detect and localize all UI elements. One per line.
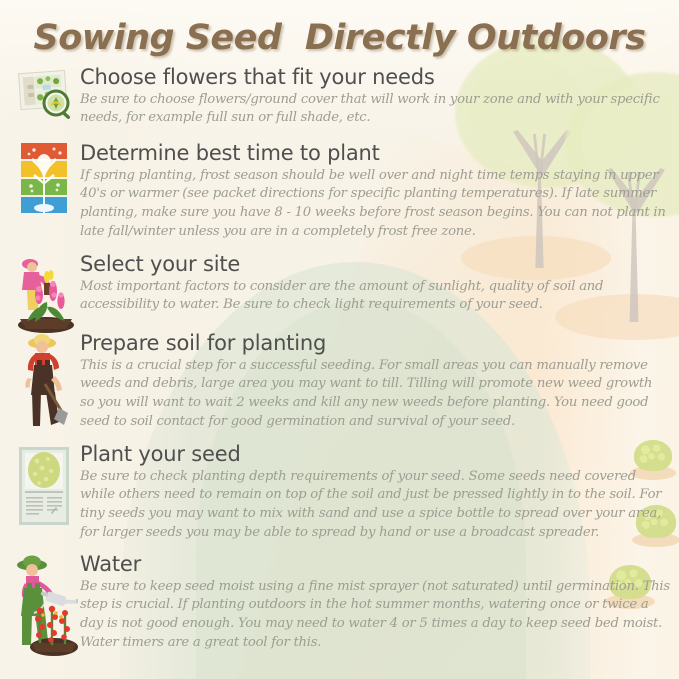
- step-heading: Choose flowers that fit your needs: [80, 66, 670, 90]
- seed-packet-icon: [10, 443, 78, 529]
- step-select-site: Select your site Most important factors …: [10, 253, 670, 333]
- gardener-planting-flowerbed-icon: [10, 253, 78, 333]
- step-water: Water Be sure to keep seed moist using a…: [10, 553, 670, 659]
- four-seasons-tree-icon: [10, 142, 78, 216]
- step-choose-flowers: Choose flowers that fit your needs Be su…: [10, 66, 670, 128]
- step-heading: Plant your seed: [80, 443, 670, 467]
- step-plant-seed: Plant your seed Be sure to check plantin…: [10, 443, 670, 542]
- step-body: Be sure to choose flowers/ground cover t…: [80, 91, 670, 128]
- step-prepare-soil: Prepare soil for planting This is a cruc…: [10, 332, 670, 432]
- step-heading: Prepare soil for planting: [80, 332, 670, 356]
- step-body: This is a crucial step for a successful …: [80, 357, 670, 432]
- step-body: If spring planting, frost season should …: [80, 167, 670, 242]
- step-body: Be sure to keep seed moist using a fine …: [80, 578, 670, 653]
- gardener-with-shovel-icon: [10, 332, 78, 432]
- step-body: Be sure to check planting depth requirem…: [80, 468, 670, 543]
- gardener-watering-can-icon: [10, 553, 78, 659]
- infographic-poster: Sowing Seed Directly Outdoors: [0, 0, 679, 679]
- step-determine-time: Determine best time to plant If spring p…: [10, 142, 670, 241]
- step-heading: Determine best time to plant: [80, 142, 670, 166]
- page-title: Sowing Seed Directly Outdoors: [0, 18, 679, 58]
- step-body: Most important factors to consider are t…: [80, 278, 670, 315]
- garden-plan-magnifier-icon: [10, 66, 78, 122]
- step-heading: Select your site: [80, 253, 670, 277]
- step-heading: Water: [80, 553, 670, 577]
